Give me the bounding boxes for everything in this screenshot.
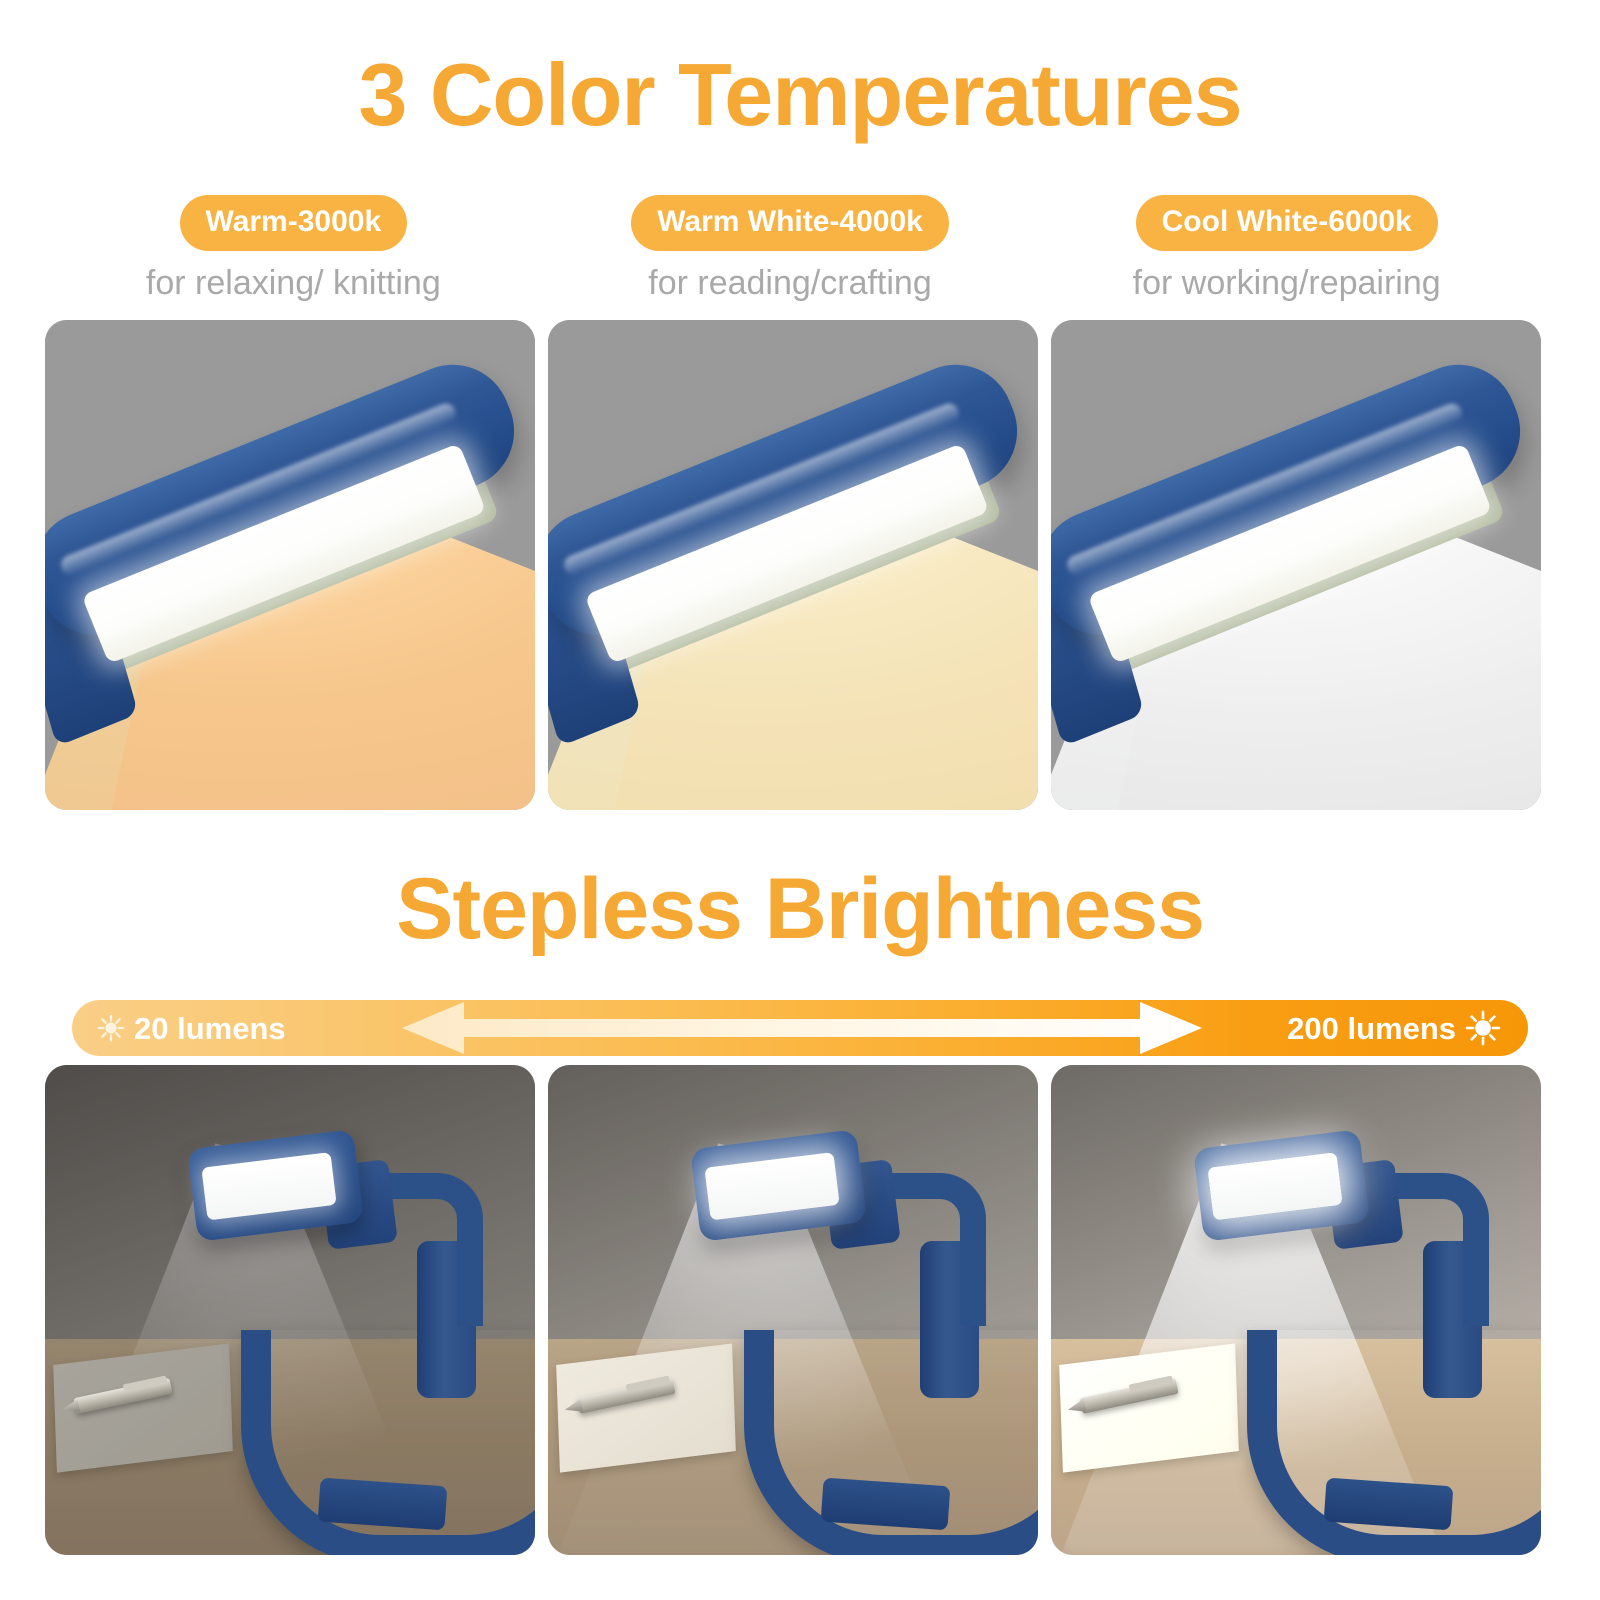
large-sun-icon	[1464, 1009, 1502, 1047]
use-case-warm-3000k: for relaxing/ knitting	[146, 263, 441, 303]
desk-scene	[548, 1065, 1038, 1555]
color-temperature-label-group-2: Warm White-4000k for reading/crafting	[542, 195, 1039, 305]
badge-cool-white-6000k: Cool White-6000k	[1136, 195, 1438, 251]
page-title-stepless-brightness: Stepless Brightness	[0, 855, 1600, 963]
desk-scene	[45, 1065, 535, 1555]
desk-scene	[1051, 1065, 1541, 1555]
use-case-cool-white-6000k: for working/repairing	[1133, 263, 1441, 303]
max-lumens-label: 200 lumens	[1287, 1013, 1456, 1044]
photo-medium-brightness	[548, 1065, 1038, 1555]
min-lumens-label: 20 lumens	[134, 1013, 286, 1044]
led-panel	[704, 1152, 839, 1220]
lamp-head	[690, 1129, 867, 1242]
infographic-root: 3 Color Temperatures Warm-3000k for rela…	[0, 0, 1600, 1600]
led-panel	[1207, 1152, 1342, 1220]
lamp-base-end	[821, 1477, 951, 1530]
photo-warm-3000k	[45, 320, 535, 810]
photo-low-brightness	[45, 1065, 535, 1555]
badge-warm-white-4000k: Warm White-4000k	[631, 195, 949, 251]
use-case-warm-white-4000k: for reading/crafting	[648, 263, 932, 303]
color-temperature-label-group-1: Warm-3000k for relaxing/ knitting	[45, 195, 542, 305]
badge-warm-3000k: Warm-3000k	[180, 195, 408, 251]
photo-cool-white-6000k	[1051, 320, 1541, 810]
color-temperature-label-group-3: Cool White-6000k for working/repairing	[1038, 195, 1535, 305]
lamp-head	[187, 1129, 364, 1242]
min-lumens-group: 20 lumens	[72, 1013, 286, 1044]
lamp-head	[1193, 1129, 1370, 1242]
max-lumens-group: 200 lumens	[1287, 1009, 1528, 1047]
brightness-range-bar[interactable]: 20 lumens 200 lumens	[72, 1000, 1528, 1056]
lamp-base-end	[1324, 1477, 1454, 1530]
lamp-base-end	[318, 1477, 448, 1530]
color-temperature-labels-row: Warm-3000k for relaxing/ knitting Warm W…	[45, 195, 1535, 305]
photo-warm-white-4000k	[548, 320, 1038, 810]
led-panel	[201, 1152, 336, 1220]
small-sun-icon	[96, 1013, 126, 1043]
double-headed-arrow-icon	[402, 1000, 1202, 1056]
photo-high-brightness	[1051, 1065, 1541, 1555]
page-title-color-temperatures: 3 Color Temperatures	[0, 40, 1600, 150]
